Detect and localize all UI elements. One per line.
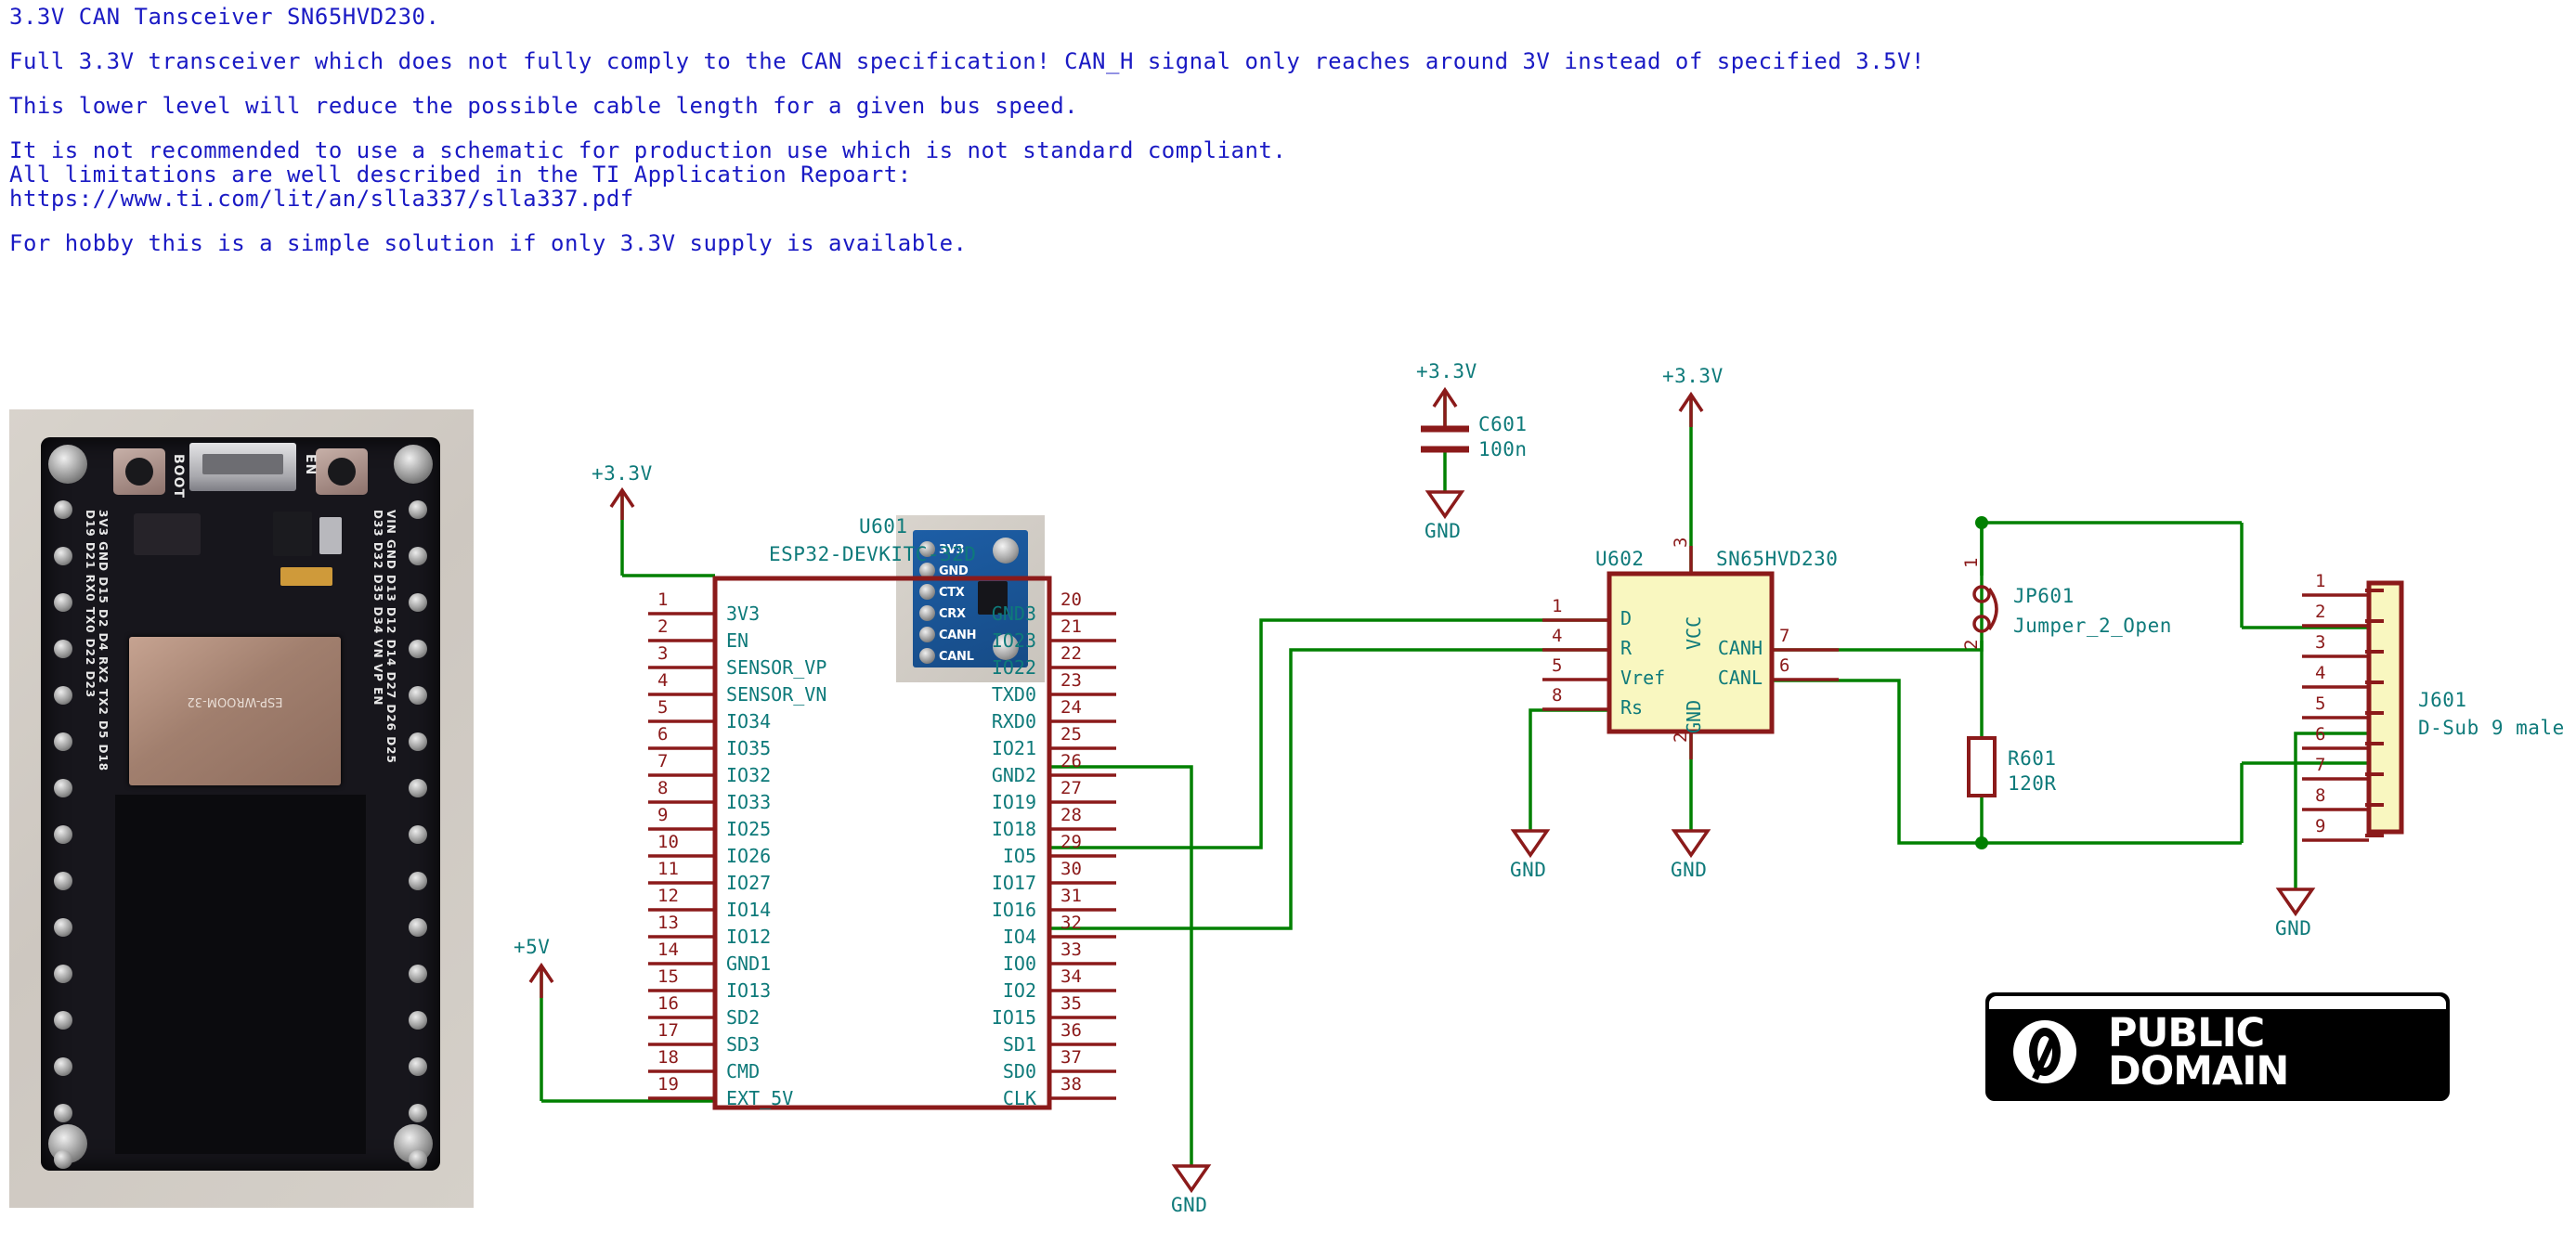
power-flag-label-5v-esp: +5V [514,936,550,958]
junction-dot [1975,516,1988,529]
power-flag-label-3v3-cap: +3.3V [1416,360,1477,382]
j601-pin-number-1: 1 [2315,571,2325,591]
gnd-symbol [1428,492,1462,516]
gnd-label-4: GND [2275,917,2311,939]
wire-j601-gnd [2296,733,2369,889]
wire-io4-to-r [1051,650,1609,928]
en-button[interactable] [316,448,368,495]
note-link[interactable]: https://www.ti.com/lit/an/slla337/slla33… [9,188,2331,210]
u601-right-pin-number-30: 30 [1060,859,1082,879]
u601-right-pin-number-27: 27 [1060,778,1082,798]
electrolytic-capacitor [319,517,342,554]
gnd-symbol [1674,831,1708,855]
u601-right-pin-name-IO5: IO5 [0,845,1036,867]
r601-reference-designator: R601 [2008,747,2057,770]
u601-right-pin-number-21: 21 [1060,616,1082,637]
mount-hole [394,445,433,484]
mount-hole [48,445,87,484]
power-flag-label-3v3-esp: +3.3V [592,462,653,485]
u601-right-pin-number-35: 35 [1060,993,1082,1014]
power-flag-3v3-u602 [1680,395,1702,427]
u601-right-pin-name-IO15: IO15 [0,1006,1036,1029]
wire-canh [1772,523,1982,650]
gnd-symbol [1175,1166,1208,1190]
u601-right-pin-number-26: 26 [1060,751,1082,771]
u602-bottom-pin-number: 2 [1671,732,1691,743]
jp601-pin-2-number: 2 [1961,640,1982,650]
note-line-7: For hobby this is a simple solution if o… [9,232,2331,254]
header-pad [409,500,427,519]
u601-right-pin-number-24: 24 [1060,697,1082,718]
header-pad [54,500,72,519]
u601-right-pin-number-28: 28 [1060,805,1082,825]
j601-pin-number-9: 9 [2315,816,2325,836]
jp601-reference-designator: JP601 [2013,585,2075,607]
u601-right-pin-number-31: 31 [1060,886,1082,906]
gnd-label-1: GND [1510,859,1546,881]
can-module-label-GND: GND [939,564,968,578]
u602-value: SN65HVD230 [1716,548,1838,570]
r601-value: 120R [2008,772,2057,795]
u602-right-pin-number-7: 7 [1779,626,1789,646]
j601-pin-number-5: 5 [2315,693,2325,714]
u601-right-pin-number-20: 20 [1060,590,1082,610]
j601-pin-number-4: 4 [2315,663,2325,683]
r601-symbol [1969,738,1995,796]
can-module-pad-CTX [919,584,935,600]
u601-right-pin-name-CLK: CLK [0,1087,1036,1109]
u602-left-pin-number-1: 1 [1552,596,1562,616]
j601-pin-number-2: 2 [2315,602,2325,622]
u601-right-pin-number-34: 34 [1060,966,1082,987]
jp601-symbol [1974,587,1997,631]
header-pad [409,547,427,565]
power-flag-label-3v3-u602: +3.3V [1662,365,1724,387]
gnd-label-3: GND [1171,1194,1207,1216]
j601-pin-number-8: 8 [2315,785,2325,806]
u601-reference-designator: U601 [859,515,908,538]
u601-right-pin-name-IO17: IO17 [0,872,1036,894]
wire-rs-gnd [1530,710,1609,831]
u601-value: ESP32-DEVKITC-32D [769,543,976,565]
j601-pin-number-3: 3 [2315,632,2325,653]
u601-right-pin-number-29: 29 [1060,832,1082,852]
junction-dot [1975,836,1988,849]
silk-boot: BOOT [171,454,186,499]
u601-right-pin-number-36: 36 [1060,1020,1082,1041]
mount-hole [993,538,1019,564]
j601-body [2369,583,2401,832]
notes-block: 3.3V CAN Tansceiver SN65HVD230. Full 3.3… [9,6,2331,254]
power-flag-3v3-cap [1434,390,1456,429]
u601-right-pin-number-25: 25 [1060,724,1082,745]
usb-uart-chip [134,513,201,555]
u601-right-pin-name-IO19: IO19 [0,791,1036,813]
u601-right-pin-name-SD0: SD0 [0,1060,1036,1082]
c601-symbol [1421,429,1469,449]
j601-reference-designator: J601 [2418,689,2467,711]
micro-usb-connector [189,443,296,491]
note-title: 3.3V CAN Tansceiver SN65HVD230. [9,6,2331,28]
power-flag-3v3-esp [611,490,633,520]
public-domain-badge: PUBLIC DOMAIN [1985,992,2450,1101]
header-pad [409,1150,427,1169]
j601-value: D-Sub 9 male [2418,717,2565,739]
note-line-5: All limitations are well described in th… [9,163,2331,186]
silk-en: EN [303,454,318,475]
u601-right-pin-name-GND2: GND2 [0,764,1036,786]
gnd-label-2: GND [1671,859,1707,881]
note-line-3: This lower level will reduce the possibl… [9,95,2331,117]
badge-line-1: PUBLIC [2108,1015,2288,1053]
note-line-4: It is not recommended to use a schematic… [9,139,2331,162]
header-pad [54,1150,72,1169]
u602-right-pin-name-CANH: CANH [0,637,1763,659]
u602-right-pin-name-CANL: CANL [0,667,1763,689]
u601-right-pin-number-32: 32 [1060,913,1082,933]
u602-right-pin-number-6: 6 [1779,655,1789,676]
u601-right-pin-name-IO16: IO16 [0,899,1036,921]
jp601-pin-1-number: 1 [1961,558,1982,568]
public-domain-text: PUBLIC DOMAIN [2108,1015,2288,1092]
u601-right-pin-number-33: 33 [1060,939,1082,960]
u601-right-pin-name-RXD0: RXD0 [0,710,1036,732]
u601-right-pin-name-IO21: IO21 [0,737,1036,759]
gnd-label-0: GND [1425,520,1461,542]
u601-right-pin-name-IO2: IO2 [0,979,1036,1002]
note-line-2: Full 3.3V transceiver which does not ful… [9,50,2331,72]
j601-pin-number-6: 6 [2315,724,2325,745]
header-pad [54,547,72,565]
u602-vcc-label: VCC [1683,616,1705,650]
u601-right-pin-name-GND3: GND3 [0,603,1036,625]
badge-line-2: DOMAIN [2108,1053,2288,1091]
boot-button[interactable] [113,448,165,495]
voltage-regulator [273,512,312,556]
public-domain-mark-icon [2002,1009,2088,1095]
u602-gnd-label: GND [1683,700,1705,733]
tantalum-capacitor [280,567,332,586]
c601-value: 100n [1478,438,1528,460]
gnd-symbol [1514,831,1547,855]
u601-right-pin-number-38: 38 [1060,1074,1082,1095]
can-module-label-CTX: CTX [939,586,965,600]
u602-top-pin-number: 3 [1671,538,1691,548]
u602-left-pin-name-D: D [1620,607,1632,629]
jp601-value: Jumper_2_Open [2013,615,2172,637]
c601-reference-designator: C601 [1478,413,1528,435]
u601-right-pin-number-37: 37 [1060,1047,1082,1068]
u602-reference-designator: U602 [1595,548,1645,570]
j601-pin-number-7: 7 [2315,755,2325,775]
wire-canl [1772,680,1982,843]
u601-right-pin-name-IO18: IO18 [0,818,1036,840]
u601-right-pin-name-SD1: SD1 [0,1033,1036,1056]
u602-left-pin-name-Rs: Rs [1620,696,1643,719]
gnd-symbol [2279,889,2312,914]
